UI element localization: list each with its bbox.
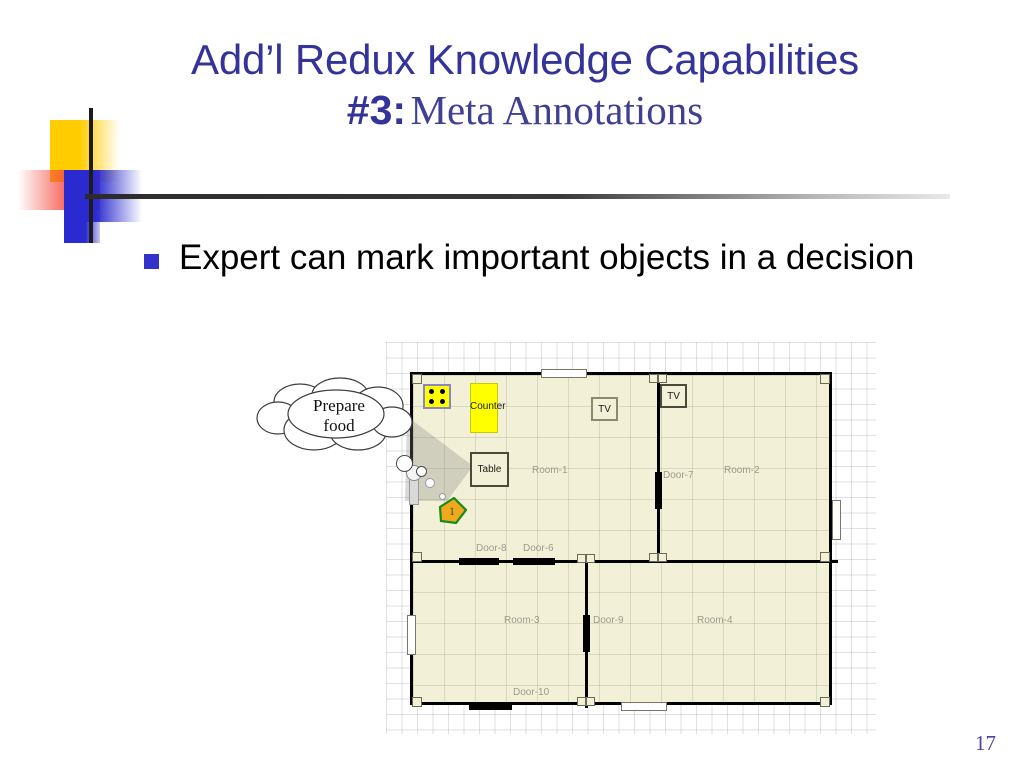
tv-object-room-2: TV xyxy=(660,384,687,408)
stove-burner-icon xyxy=(429,389,434,394)
bullet-list-item: Expert can mark important objects in a d… xyxy=(144,236,974,280)
title-item-number: #3: xyxy=(347,87,406,133)
door-9-label: Door-9 xyxy=(593,615,624,626)
window-top-wall xyxy=(541,369,587,378)
wall-joint xyxy=(820,374,830,384)
bullet-square-icon xyxy=(144,254,159,269)
door-8-block xyxy=(459,558,499,565)
wall-joint xyxy=(820,697,830,707)
room-3-label: Room-3 xyxy=(504,615,540,626)
wall-joint xyxy=(658,374,667,383)
annotation-marker-number: 1 xyxy=(437,497,467,525)
door-6-label: Door-6 xyxy=(523,543,554,554)
door-10-block xyxy=(469,703,512,710)
thought-bubble-tail-small xyxy=(416,466,427,477)
door-7-label: Door-7 xyxy=(663,470,694,481)
title-horizontal-rule xyxy=(85,194,950,199)
thought-bubble-line-1: Prepare xyxy=(313,396,365,416)
door-7-block xyxy=(655,472,662,509)
window-right-wall xyxy=(832,500,841,540)
wall-joint xyxy=(586,554,595,563)
title-line-secondary: #3: Meta Annotations xyxy=(60,89,990,132)
door-6-block xyxy=(513,558,555,565)
tv-object-room-1: TV xyxy=(591,397,618,421)
wall-joint xyxy=(586,697,595,706)
thought-bubble-line-2: food xyxy=(323,416,354,436)
door-9-block xyxy=(583,615,590,652)
stove-burner-icon xyxy=(440,389,445,394)
wall-joint xyxy=(649,374,658,383)
page-title: Add’l Redux Knowledge Capabilities #3: M… xyxy=(60,38,990,132)
wall-joint xyxy=(820,552,830,562)
slide-canvas: Add’l Redux Knowledge Capabilities #3: M… xyxy=(0,0,1024,768)
bullet-item-label: Expert can mark important objects in a d… xyxy=(179,236,914,280)
title-line-primary: Add’l Redux Knowledge Capabilities xyxy=(60,38,990,83)
window-bottom-wall xyxy=(621,702,667,711)
room-4-label: Room-4 xyxy=(697,615,733,626)
door-10-label: Door-10 xyxy=(513,687,549,698)
stove-burner-icon xyxy=(440,399,445,404)
title-subject: Meta Annotations xyxy=(411,87,704,133)
thought-bubble-text: Prepare food xyxy=(252,376,420,456)
room-2-label: Room-2 xyxy=(724,465,760,476)
stove-object xyxy=(423,384,451,409)
thought-bubble-tail-large xyxy=(396,455,413,472)
wall-joint xyxy=(412,697,422,707)
table-object: Table xyxy=(470,452,509,487)
thought-bubble: Prepare food xyxy=(252,376,420,456)
floor-plan-figure: Counter Table TV TV 1 Room-1 Room-2 Room… xyxy=(386,342,876,734)
agent-trail-dot xyxy=(425,478,435,488)
page-number: 17 xyxy=(975,731,996,756)
wall-joint xyxy=(658,553,667,562)
counter-label: Counter xyxy=(470,401,506,412)
wall-joint xyxy=(577,697,586,706)
room-1-label: Room-1 xyxy=(532,465,568,476)
wall-joint xyxy=(649,553,658,562)
wall-joint xyxy=(412,552,422,562)
stove-burner-icon xyxy=(429,399,434,404)
annotation-marker-1[interactable]: 1 xyxy=(437,497,467,525)
building-outline: Counter Table TV TV 1 Room-1 Room-2 Room… xyxy=(410,372,832,705)
window-left-wall xyxy=(407,615,416,655)
logo-blue-square-lower xyxy=(64,206,100,243)
door-8-label: Door-8 xyxy=(476,543,507,554)
wall-joint xyxy=(577,554,586,563)
